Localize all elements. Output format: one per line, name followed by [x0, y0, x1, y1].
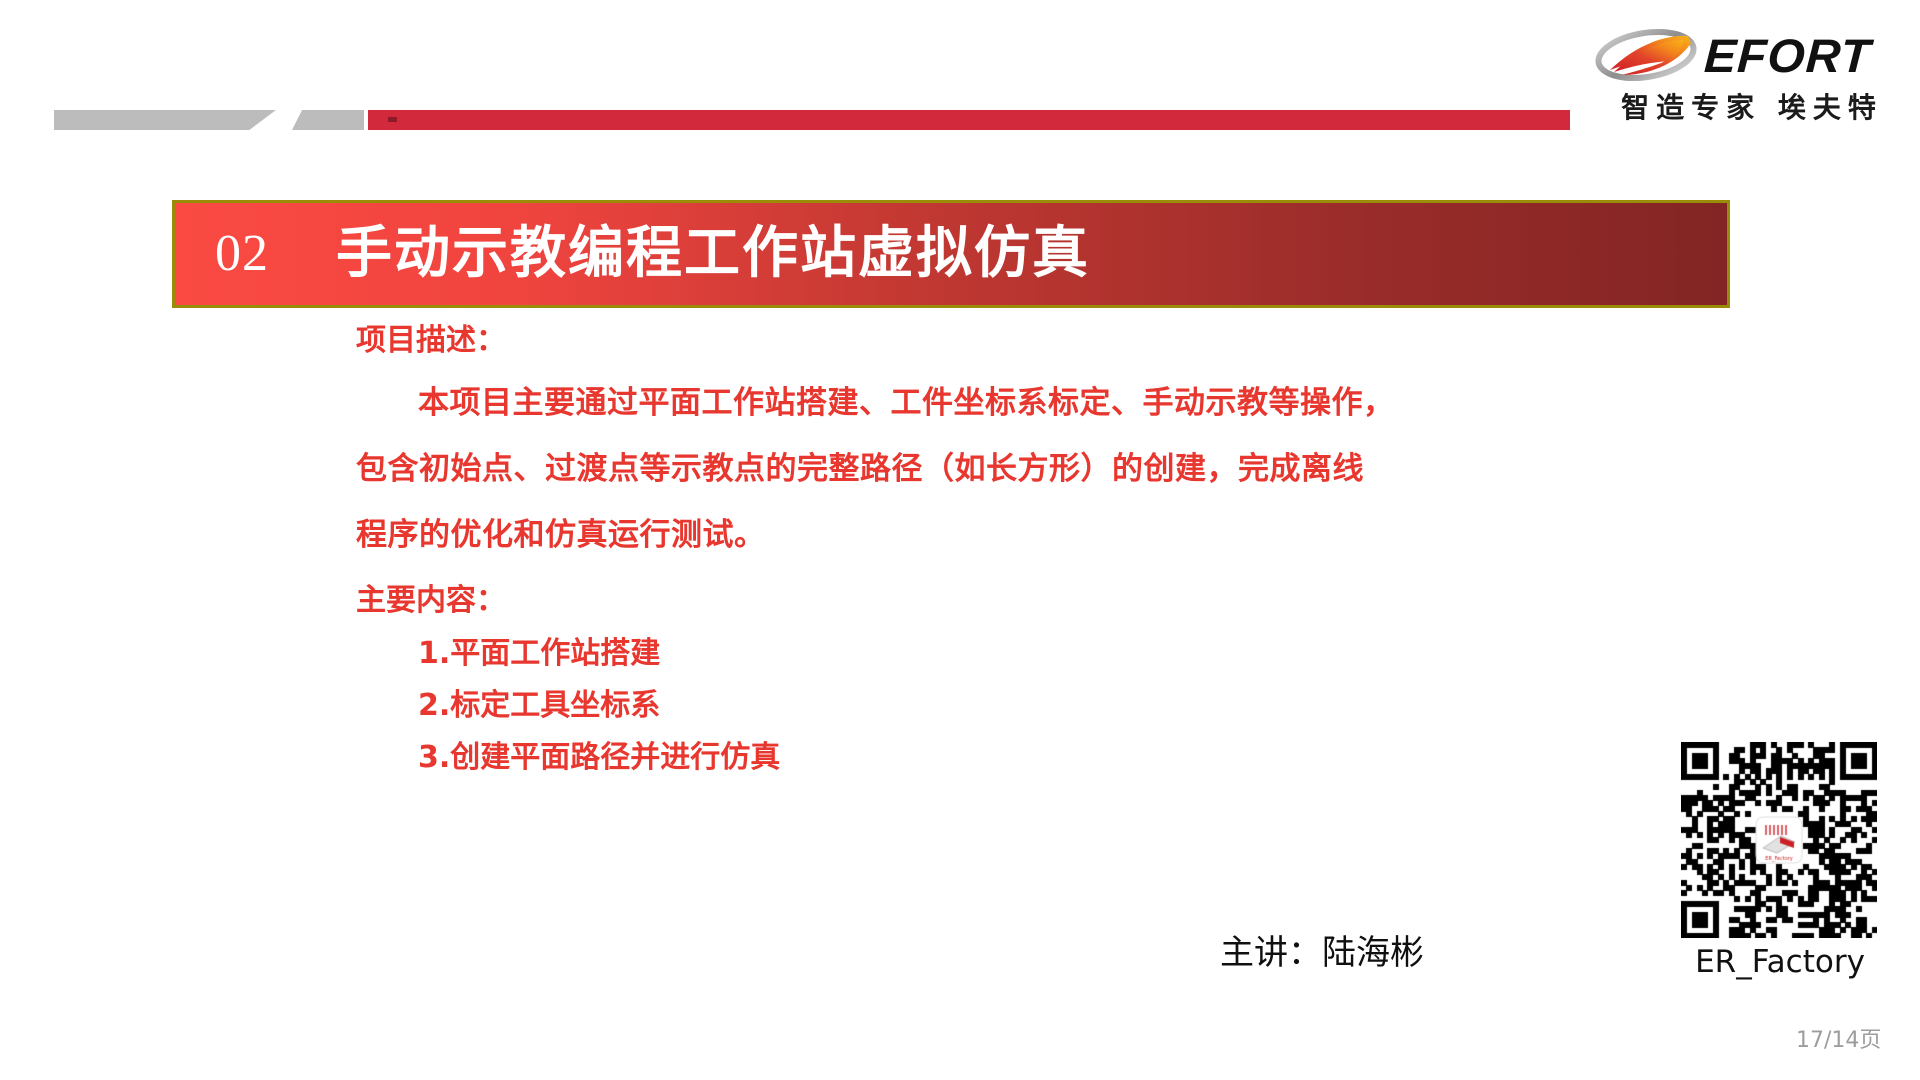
contents-item: 1.平面工作站搭建: [418, 628, 1596, 680]
qr-code-block: ER_Factory: [1681, 742, 1879, 980]
content-block: 项目描述： 本项目主要通过平面工作站搭建、工件坐标系标定、手动示教等操作， 包含…: [356, 326, 1596, 784]
brand-logo-row: EFORT: [1592, 24, 1902, 86]
decor-bar-red: [368, 110, 1570, 130]
qr-code-image: [1681, 742, 1877, 938]
decor-bar-gray-mid: [292, 110, 364, 130]
description-line: 包含初始点、过渡点等示教点的完整路径（如长方形）的创建，完成离线: [356, 436, 1596, 502]
qr-code-label: ER_Factory: [1681, 944, 1879, 980]
contents-item: 3.创建平面路径并进行仿真: [418, 732, 1596, 784]
brand-logo: EFORT 智造专家 埃夫特: [1592, 24, 1902, 124]
decor-bar-gray-left: [54, 110, 276, 130]
description-label: 项目描述：: [356, 326, 1596, 356]
contents-label: 主要内容：: [356, 586, 1596, 616]
section-title: 手动示教编程工作站虚拟仿真: [336, 226, 1090, 282]
decor-bar-notch: [388, 117, 397, 122]
section-number: 02: [215, 228, 269, 280]
contents-item: 2.标定工具坐标系: [418, 680, 1596, 732]
description-line: 本项目主要通过平面工作站搭建、工件坐标系标定、手动示教等操作，: [356, 370, 1596, 436]
presenter-line: 主讲：陆海彬: [1220, 925, 1424, 974]
efort-wing-logo-icon: [1592, 26, 1704, 84]
page-number: 17/14页: [1796, 1022, 1881, 1054]
brand-tagline: 智造专家 埃夫特: [1602, 86, 1902, 126]
slide-canvas: EFORT 智造专家 埃夫特 02 手动示教编程工作站虚拟仿真 项目描述： 本项…: [0, 0, 1920, 1080]
brand-wordmark: EFORT: [1703, 28, 1873, 83]
description-line: 程序的优化和仿真运行测试。: [356, 502, 1596, 568]
section-banner: 02 手动示教编程工作站虚拟仿真: [172, 200, 1730, 308]
